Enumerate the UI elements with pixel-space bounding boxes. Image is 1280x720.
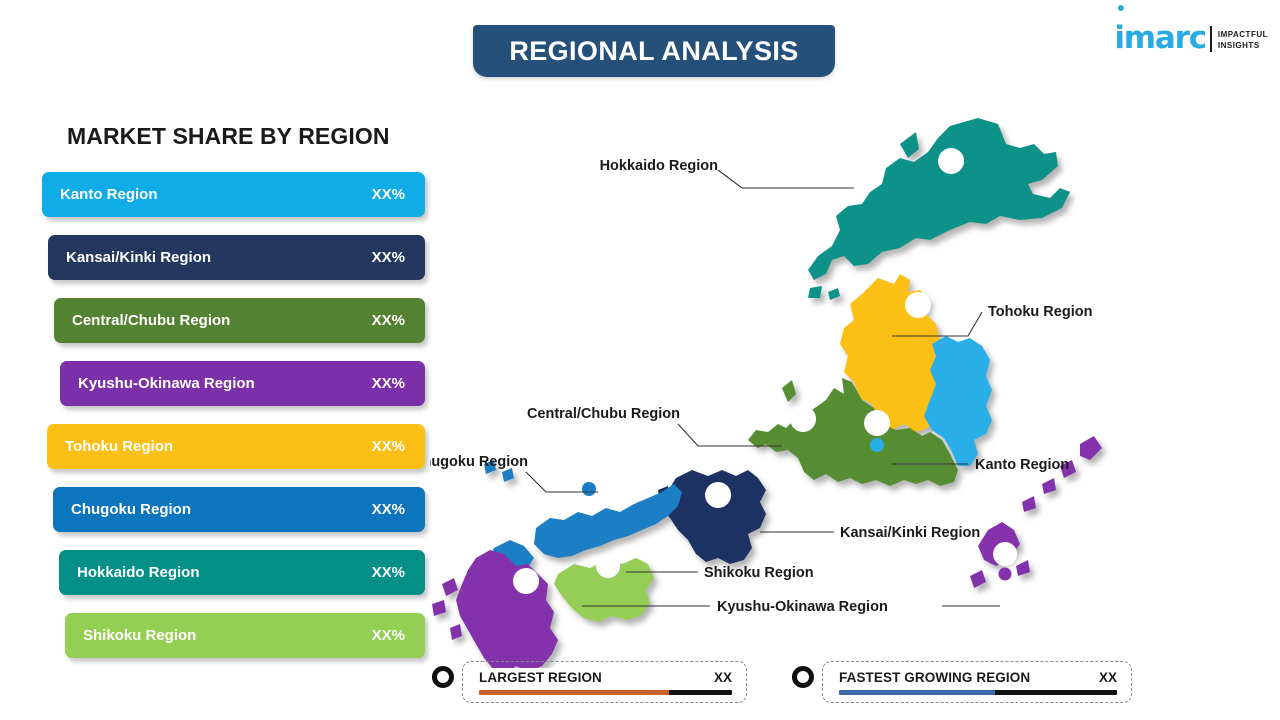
logo-dot-icon <box>1118 5 1124 11</box>
fastest-region-label: FASTEST GROWING REGION <box>839 670 1030 685</box>
market-share-bar-label: Kyushu-Okinawa Region <box>60 375 255 392</box>
fastest-region-progress-track <box>995 690 1117 695</box>
fastest-region-value: XX <box>1079 670 1117 685</box>
market-share-bar-value: XX% <box>372 501 405 518</box>
fastest-region-progress <box>839 690 1117 695</box>
market-share-bar[interactable]: Central/Chubu RegionXX% <box>54 298 425 343</box>
map-label-tohoku: Tohoku Region <box>988 304 1092 320</box>
largest-region-progress-fill <box>479 690 669 695</box>
logo-tagline: IMPACTFUL INSIGHTS <box>1218 30 1268 54</box>
market-share-bar-value: XX% <box>372 375 405 392</box>
market-share-bar-value: XX% <box>372 438 405 455</box>
map-label-chubu: Central/Chubu Region <box>527 406 680 422</box>
map-region-hokkaido[interactable] <box>808 118 1070 300</box>
market-share-bar-value: XX% <box>372 249 405 266</box>
fastest-region-block: FASTEST GROWING REGION XX <box>790 660 1170 704</box>
page-title: REGIONAL ANALYSIS <box>509 36 798 67</box>
market-share-bar-label: Tohoku Region <box>47 438 173 455</box>
market-share-bar[interactable]: Kyushu-Okinawa RegionXX% <box>60 361 425 406</box>
fastest-region-progress-fill <box>839 690 995 695</box>
slide-root: REGIONAL ANALYSIS imarc IMPACTFUL INSIGH… <box>0 0 1280 720</box>
map-label-hokkaido: Hokkaido Region <box>600 158 718 174</box>
map-label-kanto: Kanto Region <box>975 457 1069 473</box>
market-share-bar[interactable]: Tohoku RegionXX% <box>47 424 425 469</box>
map-label-shikoku: Shikoku Region <box>704 565 814 581</box>
market-share-bar-value: XX% <box>372 627 405 644</box>
market-share-bar[interactable]: Shikoku RegionXX% <box>65 613 425 658</box>
map-pin-icon <box>430 665 456 699</box>
market-share-bar[interactable]: Chugoku RegionXX% <box>53 487 425 532</box>
market-share-bar[interactable]: Kanto RegionXX% <box>42 172 425 217</box>
market-share-bar-value: XX% <box>372 564 405 581</box>
market-share-bar-label: Chugoku Region <box>53 501 191 518</box>
largest-region-progress-track <box>669 690 732 695</box>
logo-divider <box>1210 26 1212 52</box>
market-share-bar[interactable]: Hokkaido RegionXX% <box>59 550 425 595</box>
market-share-bar-label: Central/Chubu Region <box>54 312 230 329</box>
map-pin-okinawa[interactable] <box>993 542 1017 596</box>
largest-region-block: LARGEST REGION XX <box>430 660 770 704</box>
largest-region-value: XX <box>694 670 732 685</box>
footer-metrics: LARGEST REGION XX FASTEST GROWING REGION… <box>430 660 1170 708</box>
logo-tagline-line1: IMPACTFUL <box>1218 30 1268 41</box>
market-share-bar-label: Hokkaido Region <box>59 564 200 581</box>
market-share-bar-label: Kanto Region <box>42 186 158 203</box>
bottom-rule <box>0 716 1280 720</box>
market-share-bar-value: XX% <box>372 186 405 203</box>
largest-region-progress <box>479 690 732 695</box>
panel-title: MARKET SHARE BY REGION <box>67 123 390 150</box>
market-share-bar[interactable]: Kansai/Kinki RegionXX% <box>48 235 425 280</box>
logo-tagline-line2: INSIGHTS <box>1218 41 1268 52</box>
map-label-kansai: Kansai/Kinki Region <box>840 525 980 541</box>
market-share-bar-label: Kansai/Kinki Region <box>48 249 211 266</box>
map-label-chugoku: Chugoku Region <box>430 454 528 470</box>
market-share-bar-label: Shikoku Region <box>65 627 196 644</box>
largest-region-card[interactable]: LARGEST REGION XX <box>462 661 747 703</box>
japan-map: Hokkaido Region Tohoku Region Kanto Regi… <box>430 88 1280 668</box>
page-title-banner: REGIONAL ANALYSIS <box>473 25 835 77</box>
map-label-kyushu: Kyushu-Okinawa Region <box>717 599 888 615</box>
largest-region-label: LARGEST REGION <box>479 670 602 685</box>
map-pin-chugoku[interactable] <box>576 454 602 512</box>
map-pin-icon <box>790 665 816 699</box>
logo-wordmark: imarc <box>1114 23 1206 54</box>
market-share-bar-value: XX% <box>372 312 405 329</box>
leader-line-hokkaido <box>718 170 854 188</box>
fastest-region-card[interactable]: FASTEST GROWING REGION XX <box>822 661 1132 703</box>
market-share-list: Kanto RegionXX%Kansai/Kinki RegionXX%Cen… <box>0 172 440 676</box>
imarc-logo: imarc IMPACTFUL INSIGHTS <box>1114 14 1268 54</box>
